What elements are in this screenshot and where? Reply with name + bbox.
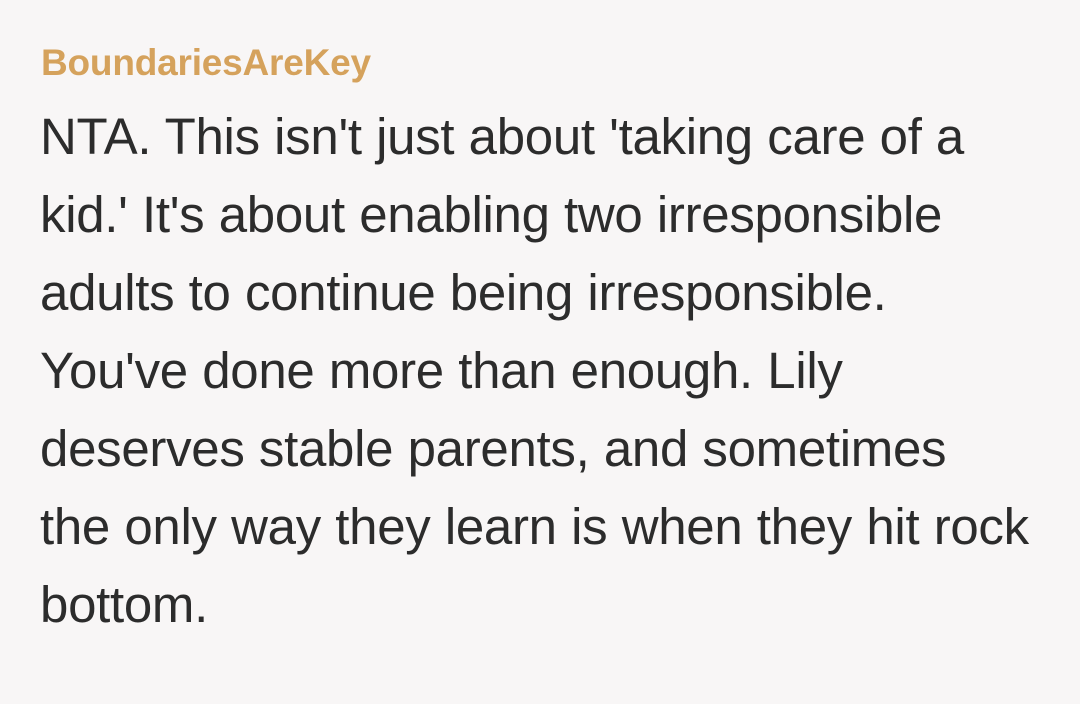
comment-body-text: NTA. This isn't just about 'taking care … xyxy=(40,98,1030,644)
comment-card: BoundariesAreKey NTA. This isn't just ab… xyxy=(0,0,1080,704)
comment-author-name[interactable]: BoundariesAreKey xyxy=(41,44,1038,83)
